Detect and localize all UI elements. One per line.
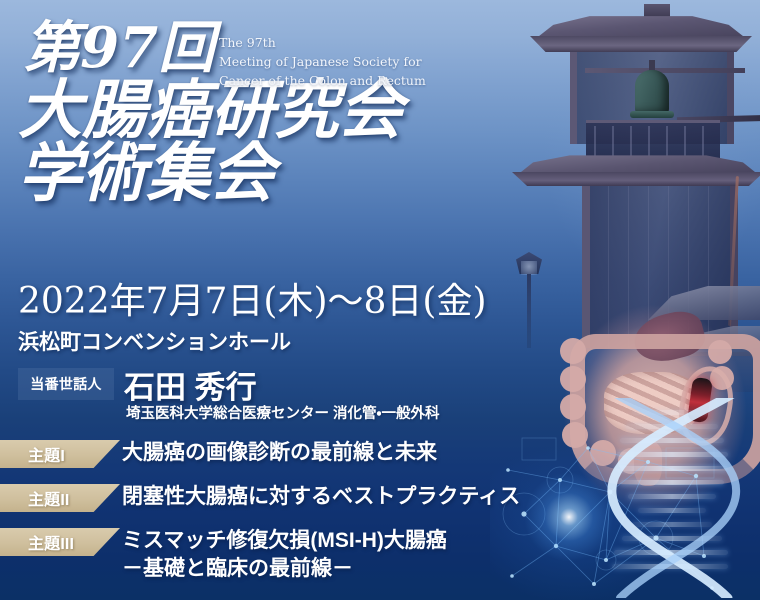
topic-badge-label: 主題III (28, 530, 74, 554)
event-date: 2022年7月7日(木)〜8日(金) (18, 272, 487, 324)
english-title-line-2: Meeting of Japanese Society for (219, 52, 426, 71)
host-affiliation: 埼玉医科大学総合医療センター 消化管・一般外科 (126, 402, 439, 423)
topic-text: 閉塞性大腸癌に対するベストプラクティス (122, 483, 520, 511)
topic-badge: 主題I (0, 440, 120, 468)
english-title: The 97th Meeting of Japanese Society for… (219, 33, 426, 90)
topic-badge: 主題II (0, 484, 120, 512)
event-venue: 浜松町コンベンションホール (18, 326, 291, 356)
topics-list: 主題I 大腸癌の画像診断の最前線と未来 主題II 閉塞性大腸癌に対するベストプラ… (0, 440, 760, 600)
topic-text-line-1: ミスマッチ修復欠損(MSI-H)大腸癌 (122, 527, 447, 555)
conference-poster: 第97回 大腸癌研究会 学術集会 The 97th Meeting of Jap… (0, 0, 760, 600)
host-section: 当番世話人 石田 秀行 埼玉医科大学総合医療センター 消化管・一般外科 (18, 366, 488, 428)
topic-text: 大腸癌の画像診断の最前線と未来 (122, 439, 437, 467)
topic-item: 主題III ミスマッチ修復欠損(MSI-H)大腸癌 －基礎と臨床の最前線－ (0, 528, 760, 588)
poster-content: 第97回 大腸癌研究会 学術集会 The 97th Meeting of Jap… (0, 0, 760, 600)
host-name: 石田 秀行 (124, 362, 257, 407)
english-title-line-3: Cancer of the Colon and Rectum (219, 71, 426, 90)
title-line-3: 学術集会 (18, 143, 403, 204)
topic-item: 主題I 大腸癌の画像診断の最前線と未来 (0, 440, 760, 472)
english-title-line-1: The 97th (219, 33, 426, 52)
topic-badge: 主題III (0, 528, 120, 556)
topic-text-line-2: －基礎と臨床の最前線－ (122, 555, 447, 583)
topic-text-line-1: 閉塞性大腸癌に対するベストプラクティス (122, 483, 520, 511)
topic-text: ミスマッチ修復欠損(MSI-H)大腸癌 －基礎と臨床の最前線－ (122, 527, 447, 582)
topic-item: 主題II 閉塞性大腸癌に対するベストプラクティス (0, 484, 760, 516)
host-role-label: 当番世話人 (30, 374, 101, 394)
topic-text-line-1: 大腸癌の画像診断の最前線と未来 (122, 439, 437, 467)
topic-badge-label: 主題II (28, 486, 70, 510)
topic-badge-label: 主題I (28, 442, 65, 466)
host-role-badge: 当番世話人 (18, 368, 114, 400)
